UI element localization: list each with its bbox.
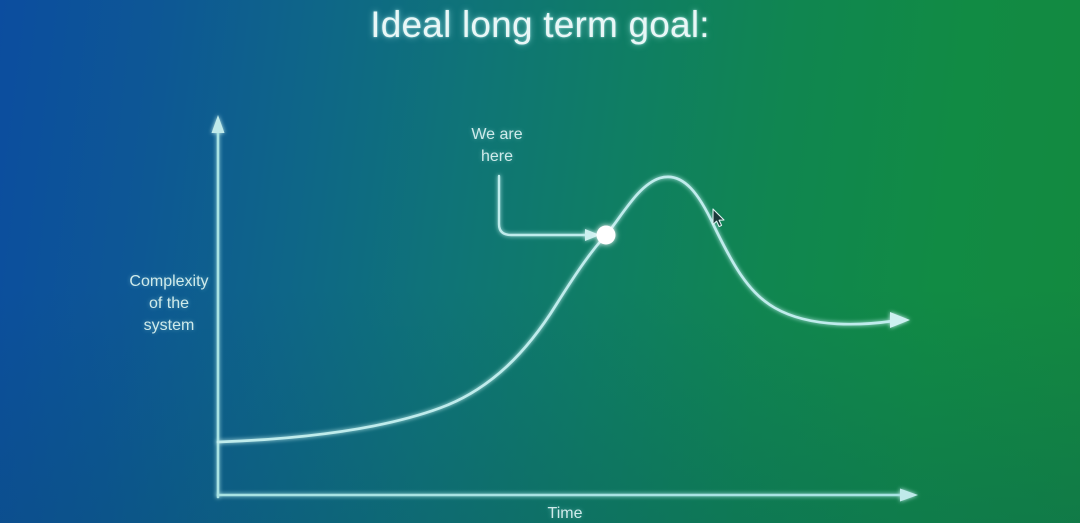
x-axis	[218, 489, 918, 502]
chart-vector-layer	[0, 0, 1080, 523]
current-point-marker	[597, 226, 616, 245]
y-axis-label-line-1: Complexity	[105, 271, 233, 293]
annotation-label-line-1: We are	[432, 124, 562, 146]
annotation-label: We are here	[432, 124, 562, 168]
x-axis-label: Time	[505, 504, 625, 523]
curve-end-arrow	[890, 312, 910, 328]
slide-canvas: Ideal long term goal:	[0, 0, 1080, 523]
y-axis-label-line-3: system	[105, 315, 233, 337]
annotation-label-line-2: here	[432, 146, 562, 168]
complexity-curve	[218, 177, 910, 442]
annotation-leader-line	[499, 176, 600, 241]
y-axis-label-line-2: of the	[105, 293, 233, 315]
y-axis-label: Complexity of the system	[105, 271, 233, 337]
